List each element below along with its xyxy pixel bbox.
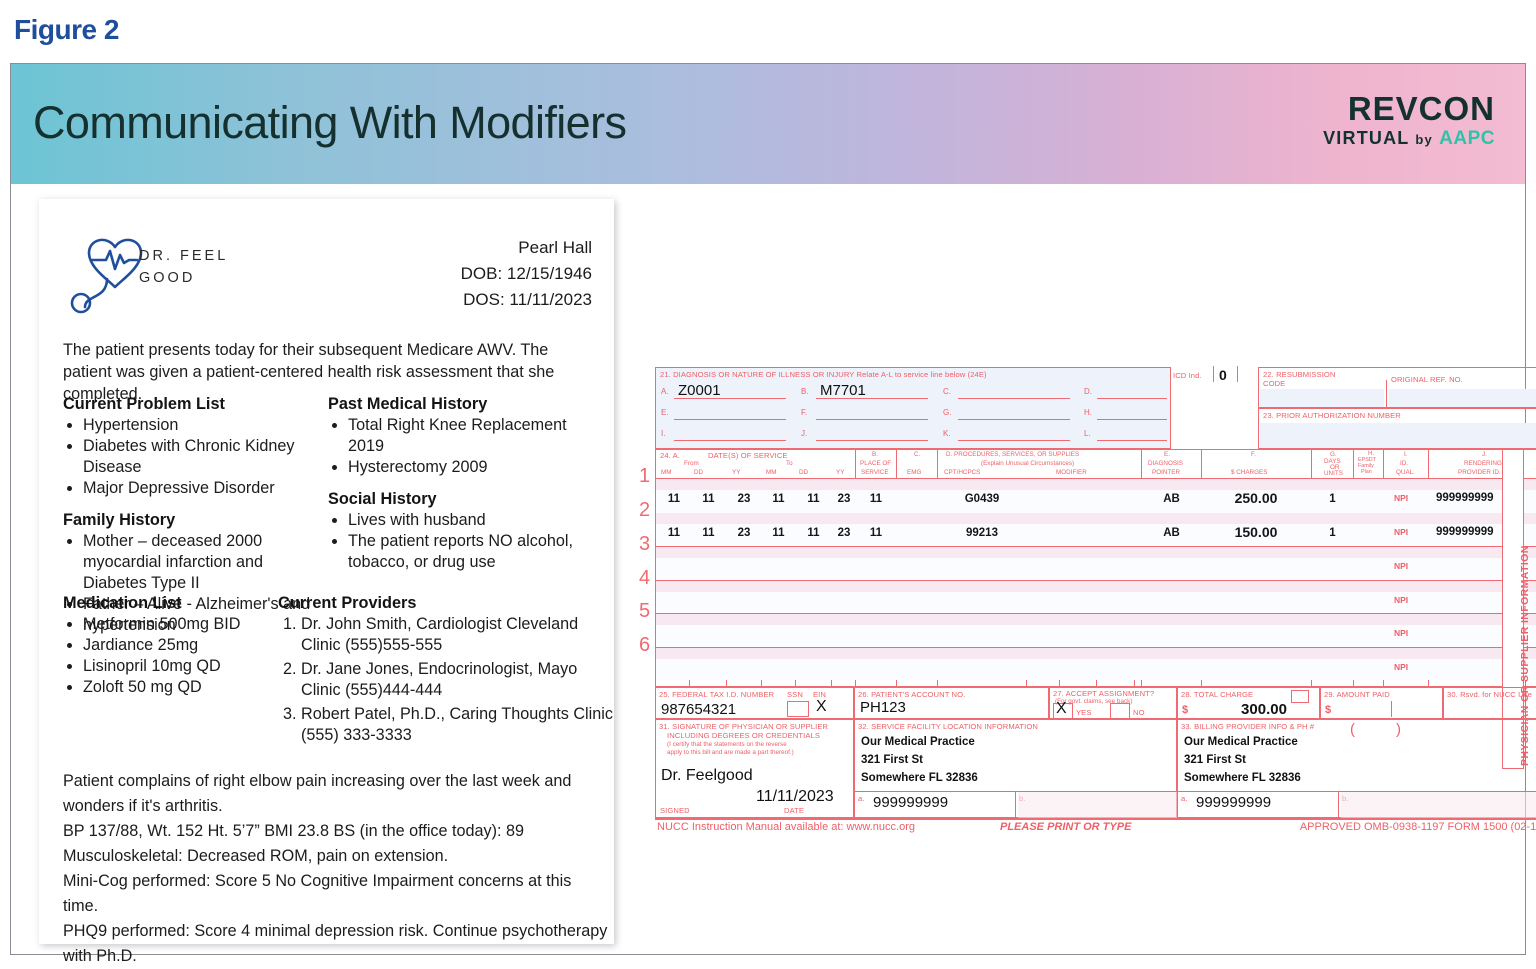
service-table-header: 24. A. DATE(S) OF SERVICE From To MM DD …	[656, 450, 1536, 479]
box-25-federal-tax-id: 25. FEDERAL TAX I.D. NUMBER SSN EIN 9876…	[655, 687, 854, 719]
patient-dos: DOS: 11/11/2023	[461, 287, 592, 313]
cell-mm-to: 11	[763, 527, 794, 539]
box-33-citystatezip: Somewhere FL 32836	[1184, 772, 1301, 784]
box-32a-value: 999999999	[873, 794, 948, 811]
box-22-resubmission: 22. RESUBMISSION CODE ORIGINAL REF. NO.	[1258, 367, 1536, 408]
box-32-title: 32. SERVICE FACILITY LOCATION INFORMATIO…	[855, 720, 1176, 731]
form-footer-right: APPROVED OMB-0938-1197 FORM 1500 (02-12)	[1300, 821, 1536, 833]
slide-header: Communicating With Modifiers REVCON VIRT…	[11, 64, 1525, 184]
slide-frame: Communicating With Modifiers REVCON VIRT…	[10, 63, 1526, 955]
box-26-value: PH123	[860, 699, 906, 716]
revcon-logo: REVCON VIRTUAL by AAPC	[1323, 92, 1495, 154]
box-31-line4: apply to this bill and are made a part t…	[656, 749, 853, 757]
box-29-title: 29. AMOUNT PAID	[1321, 688, 1442, 699]
brand-virtual-line: VIRTUAL by AAPC	[1323, 125, 1495, 154]
col-j-label: J.	[1482, 451, 1487, 459]
box-27-yes-label: YES	[1076, 708, 1092, 717]
box-21-title: 21. DIAGNOSIS OR NATURE OF ILLNESS OR IN…	[656, 368, 1170, 379]
col-dd-to: DD	[799, 469, 808, 477]
box-22-ref-field[interactable]	[1389, 389, 1536, 407]
medication-list-heading: Medication List	[63, 594, 278, 613]
box-27-title: 27. ACCEPT ASSIGNMENT?	[1050, 688, 1176, 698]
note-narrative: Patient complains of right elbow pain in…	[63, 769, 608, 969]
narrative-line: Mini-Cog performed: Score 5 No Cognitive…	[63, 869, 608, 919]
table-row[interactable]: 6 NPI	[656, 647, 1536, 681]
box-30-title: 30. Rsvd. for NUCC Use	[1444, 688, 1536, 699]
col-f-label: F.	[1251, 451, 1256, 459]
box-26-title: 26. PATIENT'S ACCOUNT NO.	[855, 688, 1048, 699]
current-problem-list: Hypertension Diabetes with Chronic Kidne…	[63, 415, 328, 499]
col-to-label: To	[786, 460, 793, 468]
brand-revcon-text: REVCON	[1323, 92, 1495, 125]
col-d-label: D. PROCEDURES, SERVICES, OR SUPPLIES	[946, 451, 1079, 459]
cell-mm-from: 11	[659, 493, 689, 505]
row-number: 2	[639, 499, 650, 522]
past-medical-history-list: Total Right Knee Replacement 2019 Hyster…	[328, 415, 598, 478]
col-id-label: ID.	[1400, 460, 1408, 468]
cell-dd-to: 11	[797, 493, 830, 505]
dx-letter-j: J.	[801, 429, 807, 438]
dx-value-a: Z0001	[678, 382, 721, 399]
box-29-dollar: $	[1325, 706, 1331, 715]
col-emg-label: EMG	[907, 469, 921, 477]
narrative-line: Musculoskeletal: Decreased ROM, pain on …	[63, 844, 608, 869]
box-31-line3: (I certify that the statements on the re…	[656, 740, 853, 749]
providers-column: Current Providers Dr. John Smith, Cardio…	[278, 594, 618, 749]
list-item: Mother – deceased 2000 myocardial infarc…	[83, 531, 328, 594]
cell-pos: 11	[857, 527, 895, 539]
list-item: Major Depressive Disorder	[83, 478, 328, 499]
cell-provider-id: 999999999	[1436, 526, 1494, 538]
box-33-title: 33. BILLING PROVIDER INFO & PH #	[1178, 720, 1536, 731]
dx-letter-d: D.	[1084, 387, 1092, 396]
cell-dd-from: 11	[692, 493, 725, 505]
col-c-label: C.	[914, 451, 920, 459]
box-25-ein-check-mark: X	[816, 698, 827, 716]
cell-cpt: 99213	[939, 527, 1025, 539]
col-provider-label: PROVIDER ID. #	[1458, 469, 1506, 477]
cell-units: 1	[1313, 527, 1352, 539]
col-yy-to: YY	[836, 469, 844, 477]
dx-letter-e: E.	[661, 408, 669, 417]
box-25-value: 987654321	[661, 701, 736, 718]
box-33-name: Our Medical Practice	[1184, 736, 1298, 748]
cell-charges: 250.00	[1203, 490, 1309, 506]
family-history-heading: Family History	[63, 511, 328, 530]
cell-yy-to: 23	[833, 527, 855, 539]
medication-column: Medication List Metformin 500mg BID Jard…	[63, 594, 278, 710]
col-d-sub: (Explain Unusual Circumstances)	[981, 460, 1074, 468]
cms-1500-form: 21. DIAGNOSIS OR NATURE OF ILLNESS OR IN…	[650, 360, 1523, 832]
row-number: 5	[639, 600, 650, 623]
narrative-line: Patient complains of right elbow pain in…	[63, 769, 608, 819]
table-row[interactable]: 1 11 11 23 11 11 23 11 G0439 AB 250.00 1	[656, 479, 1536, 513]
box-31-date-label: DATE	[784, 806, 804, 815]
box-24-service-lines: 24. A. DATE(S) OF SERVICE From To MM DD …	[655, 449, 1536, 687]
cell-dd-from: 11	[692, 527, 725, 539]
col-pos-2: SERVICE	[861, 469, 889, 477]
cell-pos: 11	[857, 493, 895, 505]
box-33a-label: a.	[1181, 794, 1188, 803]
col-e-sub2: POINTER	[1152, 469, 1180, 477]
col-b-label: B.	[872, 451, 878, 459]
box-32a-label: a.	[858, 794, 865, 803]
dx-field-e[interactable]	[674, 405, 786, 420]
cell-yy-to: 23	[833, 493, 855, 505]
box-29-amount-paid: 29. AMOUNT PAID $	[1320, 687, 1443, 719]
list-item: The patient reports NO alcohol, tobacco,…	[348, 531, 598, 573]
brand-virtual-text: VIRTUAL	[1323, 128, 1409, 148]
col-yy-from: YY	[732, 469, 740, 477]
col-dd-from: DD	[694, 469, 703, 477]
box-31-signature-value[interactable]: Dr. Feelgood	[661, 767, 753, 785]
dx-field-k[interactable]	[958, 426, 1070, 441]
box-31-title: 31. SIGNATURE OF PHYSICIAN OR SUPPLIER	[656, 720, 853, 731]
slide-title: Communicating With Modifiers	[33, 97, 626, 149]
social-history-heading: Social History	[328, 490, 598, 509]
logo-line-1: DR. FEEL	[139, 245, 228, 267]
patient-header: Pearl Hall DOB: 12/15/1946 DOS: 11/11/20…	[461, 235, 592, 313]
list-item: Dr. John Smith, Cardiologist Cleveland C…	[301, 614, 618, 656]
patient-dob: DOB: 12/15/1946	[461, 261, 592, 287]
box-33-billing-provider: 33. BILLING PROVIDER INFO & PH # ( ) Our…	[1177, 719, 1536, 818]
cell-yy-from: 23	[728, 527, 760, 539]
row-number: 6	[639, 634, 650, 657]
list-item: Jardiance 25mg	[83, 635, 278, 656]
dx-letter-g: G.	[943, 408, 951, 417]
box-23-title: 23. PRIOR AUTHORIZATION NUMBER	[1259, 409, 1536, 420]
cell-id-qual: NPI	[1394, 493, 1408, 503]
box-33-phone-open-paren: (	[1350, 721, 1355, 738]
col-dates-label: DATE(S) OF SERVICE	[708, 451, 788, 460]
col-epsdt-3: Plan	[1361, 469, 1372, 477]
table-row[interactable]: 5 NPI	[656, 613, 1536, 647]
dx-letter-h: H.	[1084, 408, 1092, 417]
row-number: 3	[639, 533, 650, 556]
list-item: Diabetes with Chronic Kidney Disease	[83, 436, 328, 478]
box-25-ssn-checkbox[interactable]	[787, 701, 809, 717]
box-26-patient-account: 26. PATIENT'S ACCOUNT NO. PH123	[854, 687, 1049, 719]
logo-line-2: GOOD	[139, 267, 228, 289]
col-qual-label: QUAL.	[1396, 469, 1415, 477]
cell-id-qual: NPI	[1394, 595, 1408, 605]
box-32-citystatezip: Somewhere FL 32836	[861, 772, 978, 784]
form-footer-left: NUCC Instruction Manual available at: ww…	[657, 821, 915, 833]
cell-id-qual: NPI	[1394, 527, 1408, 537]
list-item: Lives with husband	[348, 510, 598, 531]
box-31-line2: INCLUDING DEGREES OR CREDENTIALS	[656, 731, 853, 740]
list-item: Metformin 500mg BID	[83, 614, 278, 635]
box-33-street: 321 First St	[1184, 754, 1246, 766]
dx-field-i[interactable]	[674, 426, 786, 441]
box-33-phone-close-paren: )	[1396, 721, 1401, 738]
dx-letter-f: F.	[801, 408, 807, 417]
dx-field-g[interactable]	[958, 405, 1070, 420]
dx-letter-a: A.	[661, 387, 669, 396]
box-21-diagnosis: 21. DIAGNOSIS OR NATURE OF ILLNESS OR IN…	[655, 367, 1171, 449]
cell-units: 1	[1313, 493, 1352, 505]
box-28-value: 300.00	[1216, 701, 1312, 718]
dx-letter-b: B.	[801, 387, 809, 396]
col-days-3: UNITS	[1324, 470, 1343, 478]
box-27-yes-checkbox[interactable]: X	[1053, 703, 1073, 719]
box-27-no-checkbox[interactable]	[1110, 703, 1130, 719]
cell-dd-to: 11	[797, 527, 830, 539]
current-providers-list: Dr. John Smith, Cardiologist Cleveland C…	[278, 614, 618, 746]
row-number: 1	[639, 465, 650, 488]
past-medical-history-heading: Past Medical History	[328, 395, 598, 414]
social-history-list: Lives with husband The patient reports N…	[328, 510, 598, 573]
dx-field-j[interactable]	[816, 426, 928, 441]
dx-value-b: M7701	[820, 382, 866, 399]
list-item: Robert Patel, Ph.D., Caring Thoughts Cli…	[301, 704, 618, 746]
cell-id-qual: NPI	[1394, 561, 1408, 571]
col-mm-to: MM	[766, 469, 777, 477]
patient-name: Pearl Hall	[461, 235, 592, 261]
box-32-name: Our Medical Practice	[861, 736, 975, 748]
list-item: Lisinopril 10mg QD	[83, 656, 278, 677]
box-28-dollar: $	[1182, 706, 1188, 715]
table-row[interactable]: 3 NPI	[656, 546, 1536, 580]
cell-charges: 150.00	[1203, 524, 1309, 540]
box-28-total-charge: 28. TOTAL CHARGE $ 300.00	[1177, 687, 1320, 719]
box-33b-field[interactable]	[1341, 792, 1536, 818]
box-31-date-value[interactable]: 11/11/2023	[756, 788, 834, 806]
brand-by-text: by	[1415, 132, 1433, 147]
brand-aapc-text: AAPC	[1439, 128, 1495, 149]
meds-providers-columns: Medication List Metformin 500mg BID Jard…	[63, 594, 623, 749]
box-31-signature: 31. SIGNATURE OF PHYSICIAN OR SUPPLIER I…	[655, 719, 854, 818]
narrative-line: BP 137/88, Wt. 152 Ht. 5’7” BMI 23.8 BS …	[63, 819, 608, 844]
form-footer-center: PLEASE PRINT OR TYPE	[1000, 821, 1131, 833]
cell-provider-id: 999999999	[1436, 492, 1494, 504]
cell-id-qual: NPI	[1394, 662, 1408, 672]
dx-letter-c: C.	[943, 387, 951, 396]
history-right-column: Past Medical History Total Right Knee Re…	[328, 395, 598, 585]
list-item: Total Right Knee Replacement 2019	[348, 415, 598, 457]
col-pos-1: PLACE OF	[860, 460, 891, 468]
dx-field-f[interactable]	[816, 405, 928, 420]
icd-ind-value: 0	[1219, 367, 1227, 383]
col-from-label: From	[684, 460, 699, 468]
cell-id-qual: NPI	[1394, 628, 1408, 638]
cell-diagnosis-pointer: AB	[1143, 493, 1200, 505]
dx-field-l[interactable]	[1097, 426, 1167, 441]
list-item: Dr. Jane Jones, Endocrinologist, Mayo Cl…	[301, 659, 618, 701]
row-number: 4	[639, 567, 650, 590]
current-problem-list-heading: Current Problem List	[63, 395, 328, 414]
col-mm-from: MM	[661, 469, 672, 477]
table-row[interactable]: 4 NPI	[656, 580, 1536, 614]
icd-ind-label: ICD Ind.	[1173, 371, 1202, 380]
dx-field-h[interactable]	[1097, 405, 1167, 420]
narrative-line: PHQ9 performed: Score 4 minimal depressi…	[63, 919, 608, 969]
col-cpt-label: CPT/HCPCS	[944, 469, 980, 477]
box-31-signed-label: SIGNED	[660, 806, 690, 815]
dx-field-d[interactable]	[1097, 384, 1167, 399]
box-27-yes-check-mark: X	[1056, 700, 1067, 718]
box-27-accept-assignment: 27. ACCEPT ASSIGNMENT? (For govt. claims…	[1049, 687, 1177, 719]
form-footer: NUCC Instruction Manual available at: ww…	[655, 818, 1536, 832]
box-30-nucc-use: 30. Rsvd. for NUCC Use	[1443, 687, 1536, 719]
box-22-ref-label: ORIGINAL REF. NO.	[1391, 375, 1463, 384]
dx-field-c[interactable]	[958, 384, 1070, 399]
logo-wordmark: DR. FEEL GOOD	[139, 245, 228, 289]
col-e-sub1: DIAGNOSIS	[1148, 460, 1183, 468]
dx-letter-i: I.	[661, 429, 665, 438]
clinical-note-page: DR. FEEL GOOD Pearl Hall DOB: 12/15/1946…	[39, 199, 614, 944]
col-rendering-label: RENDERING	[1464, 460, 1502, 468]
box-25-ssn-label: SSN	[787, 690, 803, 699]
table-row[interactable]: 2 11 11 23 11 11 23 11 99213 AB 150.00 1	[656, 513, 1536, 547]
list-item: Zoloft 50 mg QD	[83, 677, 278, 698]
box-25-ein-checkbox[interactable]: X	[813, 701, 837, 717]
box-32-service-facility: 32. SERVICE FACILITY LOCATION INFORMATIO…	[854, 719, 1177, 818]
col-modifier-label: MODIFIER	[1056, 469, 1087, 477]
cell-yy-from: 23	[728, 493, 760, 505]
cell-diagnosis-pointer: AB	[1143, 527, 1200, 539]
dx-letter-k: K.	[943, 429, 951, 438]
dx-letter-l: L.	[1084, 429, 1091, 438]
box-23-prior-auth: 23. PRIOR AUTHORIZATION NUMBER	[1258, 408, 1536, 449]
box-32b-field[interactable]	[1018, 792, 1177, 818]
box-32-street: 321 First St	[861, 754, 923, 766]
current-providers-heading: Current Providers	[278, 594, 618, 613]
list-item: Hysterectomy 2009	[348, 457, 598, 478]
icd-indicator-group: ICD Ind. 0	[1171, 367, 1257, 449]
col-24a-label: 24. A.	[660, 451, 680, 460]
figure-label: Figure 2	[14, 14, 119, 46]
list-item: Hypertension	[83, 415, 328, 436]
box-27-no-label: NO	[1133, 708, 1145, 717]
cell-cpt: G0439	[939, 493, 1025, 505]
col-charges-label: $ CHARGES	[1231, 469, 1267, 477]
medication-list: Metformin 500mg BID Jardiance 25mg Lisin…	[63, 614, 278, 698]
cell-mm-to: 11	[763, 493, 794, 505]
col-e-label: E.	[1164, 451, 1170, 459]
box-30-field[interactable]	[1446, 701, 1536, 718]
box-22-code-field[interactable]	[1260, 389, 1384, 407]
box-23-field[interactable]	[1260, 423, 1536, 448]
col-i-label: I.	[1404, 451, 1408, 459]
box-33a-value: 999999999	[1196, 794, 1271, 811]
cell-mm-from: 11	[659, 527, 689, 539]
